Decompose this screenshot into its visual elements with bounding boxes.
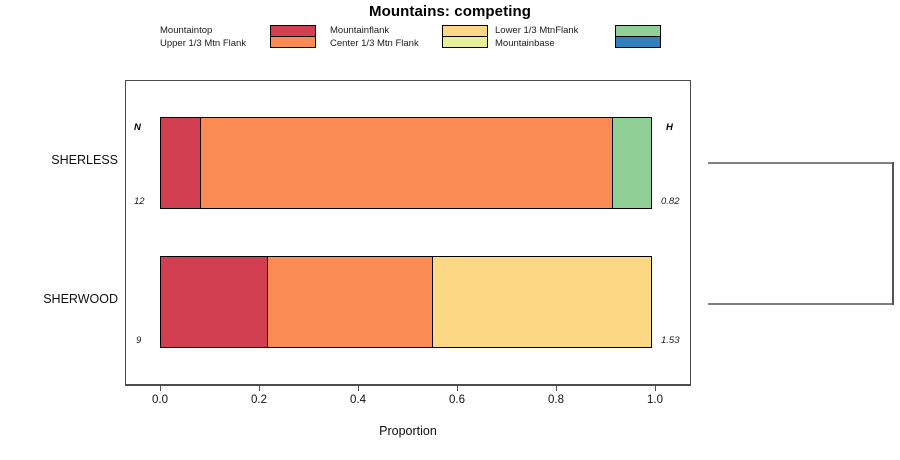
x-axis-tick <box>655 385 656 391</box>
stat-value-n-sherless: 12 <box>134 196 145 207</box>
dendrogram-join <box>892 162 894 305</box>
x-axis-tick <box>259 385 260 391</box>
legend-column-1: Mountaintop Upper 1/3 Mtn Flank <box>160 24 332 52</box>
stat-value-h-sherwood: 1.53 <box>661 335 680 346</box>
legend-swatch-mountainbase <box>615 36 661 48</box>
legend-column-3-labels: Lower 1/3 MtnFlank Mountainbase <box>495 24 578 50</box>
x-axis-tick <box>358 385 359 391</box>
legend-column-1-labels: Mountaintop Upper 1/3 Mtn Flank <box>160 24 246 50</box>
legend-label-mountainflank: Mountainflank <box>330 24 419 37</box>
x-axis-line <box>125 385 691 386</box>
legend-label-center-third-mtn-flank: Center 1/3 Mtn Flank <box>330 37 419 50</box>
legend-swatch-upper-third-mtn-flank <box>270 36 316 48</box>
x-axis-tick-label: 0.6 <box>435 394 479 406</box>
stat-header-h: H <box>666 122 673 133</box>
legend-label-lower-third-mtn-flank: Lower 1/3 MtnFlank <box>495 24 578 37</box>
chart-title: Mountains: competing <box>0 3 900 20</box>
bar-segment[interactable] <box>160 117 202 209</box>
bar-segment[interactable] <box>160 256 269 348</box>
stat-value-h-sherless: 0.82 <box>661 196 680 207</box>
legend-label-mountainbase: Mountainbase <box>495 37 578 50</box>
dendrogram-branch-top <box>708 162 894 164</box>
bar-segment[interactable] <box>267 256 433 348</box>
legend-column-1-swatches <box>270 25 316 47</box>
chart-legend: Mountaintop Upper 1/3 Mtn Flank Mountain… <box>160 24 680 52</box>
x-axis-tick <box>457 385 458 391</box>
x-axis-tick <box>160 385 161 391</box>
legend-label-upper-third-mtn-flank: Upper 1/3 Mtn Flank <box>160 37 246 50</box>
legend-swatch-center-third-mtn-flank <box>442 36 488 48</box>
row-label-sherless: SHERLESS <box>0 153 118 167</box>
legend-column-3-swatches <box>615 25 661 47</box>
x-axis-tick <box>556 385 557 391</box>
dendrogram-bracket <box>700 150 900 320</box>
x-axis-tick-label: 0.0 <box>138 394 182 406</box>
legend-column-2-swatches <box>442 25 488 47</box>
x-axis-tick-label: 0.8 <box>534 394 578 406</box>
x-axis-tick-label: 1.0 <box>633 394 677 406</box>
legend-column-3: Lower 1/3 MtnFlank Mountainbase <box>495 24 670 52</box>
legend-column-2: Mountainflank Center 1/3 Mtn Flank <box>330 24 502 52</box>
stacked-bar-sherwood[interactable] <box>160 256 655 348</box>
bar-segment[interactable] <box>200 117 613 209</box>
stacked-bar-sherless[interactable] <box>160 117 655 209</box>
row-label-sherwood: SHERWOOD <box>0 292 118 306</box>
x-axis-title: Proportion <box>125 424 691 438</box>
legend-label-mountaintop: Mountaintop <box>160 24 246 37</box>
stat-value-n-sherwood: 9 <box>136 335 141 346</box>
x-axis-tick-label: 0.2 <box>237 394 281 406</box>
dendrogram-branch-bottom <box>708 303 894 305</box>
legend-column-2-labels: Mountainflank Center 1/3 Mtn Flank <box>330 24 419 50</box>
bar-segment[interactable] <box>612 117 652 209</box>
stat-header-n: N <box>134 122 141 133</box>
stacked-bar-chart: Mountains: competing Mountaintop Upper 1… <box>0 0 900 460</box>
bar-segment[interactable] <box>432 256 652 348</box>
x-axis-tick-label: 0.4 <box>336 394 380 406</box>
